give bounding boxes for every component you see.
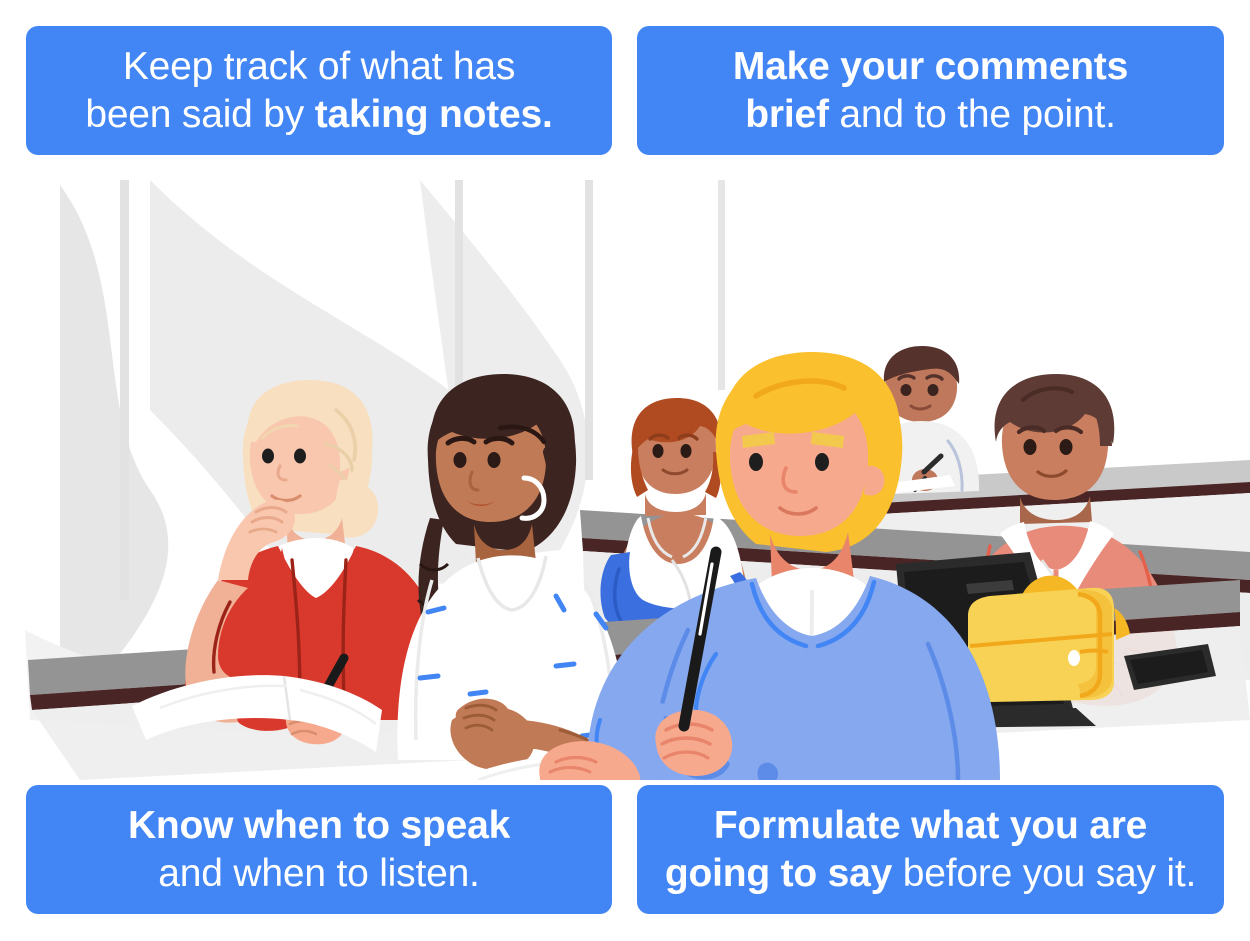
tip-card-know-when-to-speak-text: Know when to speak and when to listen. (128, 802, 510, 898)
card-tr-line2-bold: brief (745, 93, 829, 136)
tip-card-know-when-to-speak: Know when to speak and when to listen. (26, 785, 612, 914)
tip-card-formulate-text: Formulate what you are going to say befo… (665, 802, 1196, 898)
card-br-line2-regular: before you say it. (892, 852, 1196, 895)
tip-card-take-notes: Keep track of what has been said by taki… (26, 26, 612, 155)
infographic-root: Keep track of what has been said by taki… (0, 0, 1250, 941)
card-tr-line2-regular: and to the point. (829, 93, 1116, 136)
card-bl-line2-regular: and when to listen. (158, 852, 479, 895)
card-br-line1-bold: Formulate what you are (714, 804, 1147, 847)
card-tl-line2-bold: taking notes. (315, 93, 553, 136)
card-br-line2-bold: going to say (665, 852, 892, 895)
tip-card-formulate: Formulate what you are going to say befo… (637, 785, 1224, 914)
tip-card-take-notes-text: Keep track of what has been said by taki… (85, 43, 552, 139)
card-bl-line1-bold: Know when to speak (128, 804, 510, 847)
card-tl-line2-regular: been said by (85, 93, 314, 136)
card-tr-line1-bold: Make your comments (733, 45, 1128, 88)
classroom-illustration (0, 160, 1250, 780)
card-tl-line1: Keep track of what has (123, 45, 515, 88)
tip-card-brief-comments: Make your comments brief and to the poin… (637, 26, 1224, 155)
tip-card-brief-comments-text: Make your comments brief and to the poin… (733, 43, 1128, 139)
